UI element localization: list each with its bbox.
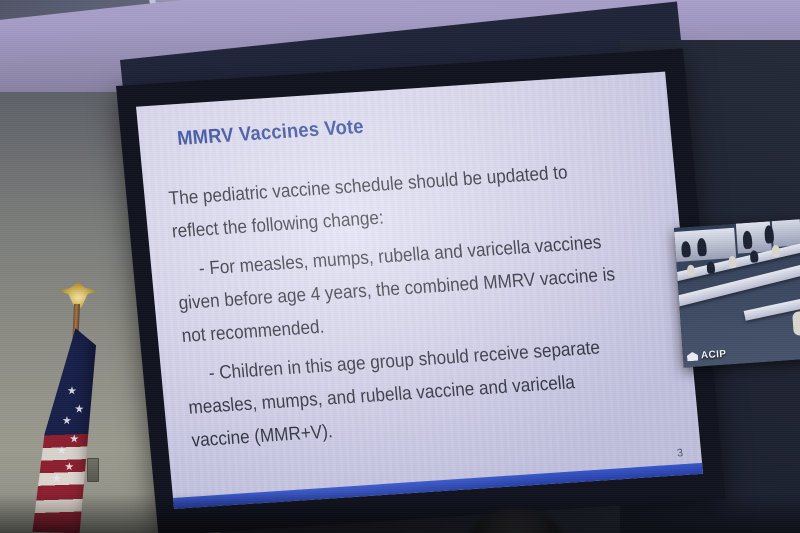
flag-star	[65, 462, 74, 471]
slide-bullet: - Children in this age group should rece…	[184, 330, 637, 458]
video-attendee	[687, 265, 696, 277]
flag-star	[62, 416, 71, 425]
slide-body: The pediatric vaccine schedule should be…	[167, 150, 687, 464]
conference-room-photo: MMRV Vaccines Vote The pediatric vaccine…	[0, 0, 800, 533]
video-attendee	[750, 250, 759, 263]
flag-star	[75, 404, 84, 413]
flag-star	[57, 446, 66, 455]
presentation-slide: MMRV Vaccines Vote The pediatric vaccine…	[136, 72, 703, 509]
video-conference-feed: ACIP	[674, 219, 800, 367]
flag-star	[70, 434, 79, 443]
projection-screen: MMRV Vaccines Vote The pediatric vaccine…	[116, 48, 726, 533]
bottom-vignette	[0, 493, 800, 533]
video-attendee	[771, 245, 780, 258]
acip-logo-icon	[687, 352, 699, 362]
flag-star	[67, 386, 76, 395]
video-attendee	[792, 311, 800, 336]
slide-title: MMRV Vaccines Vote	[176, 116, 365, 151]
video-attendee	[728, 256, 737, 269]
slide-page-number: 3	[676, 447, 683, 459]
video-attendee	[706, 261, 715, 274]
video-backwall	[771, 219, 800, 247]
video-feed-label-text: ACIP	[701, 349, 727, 362]
flag-star	[52, 474, 61, 483]
